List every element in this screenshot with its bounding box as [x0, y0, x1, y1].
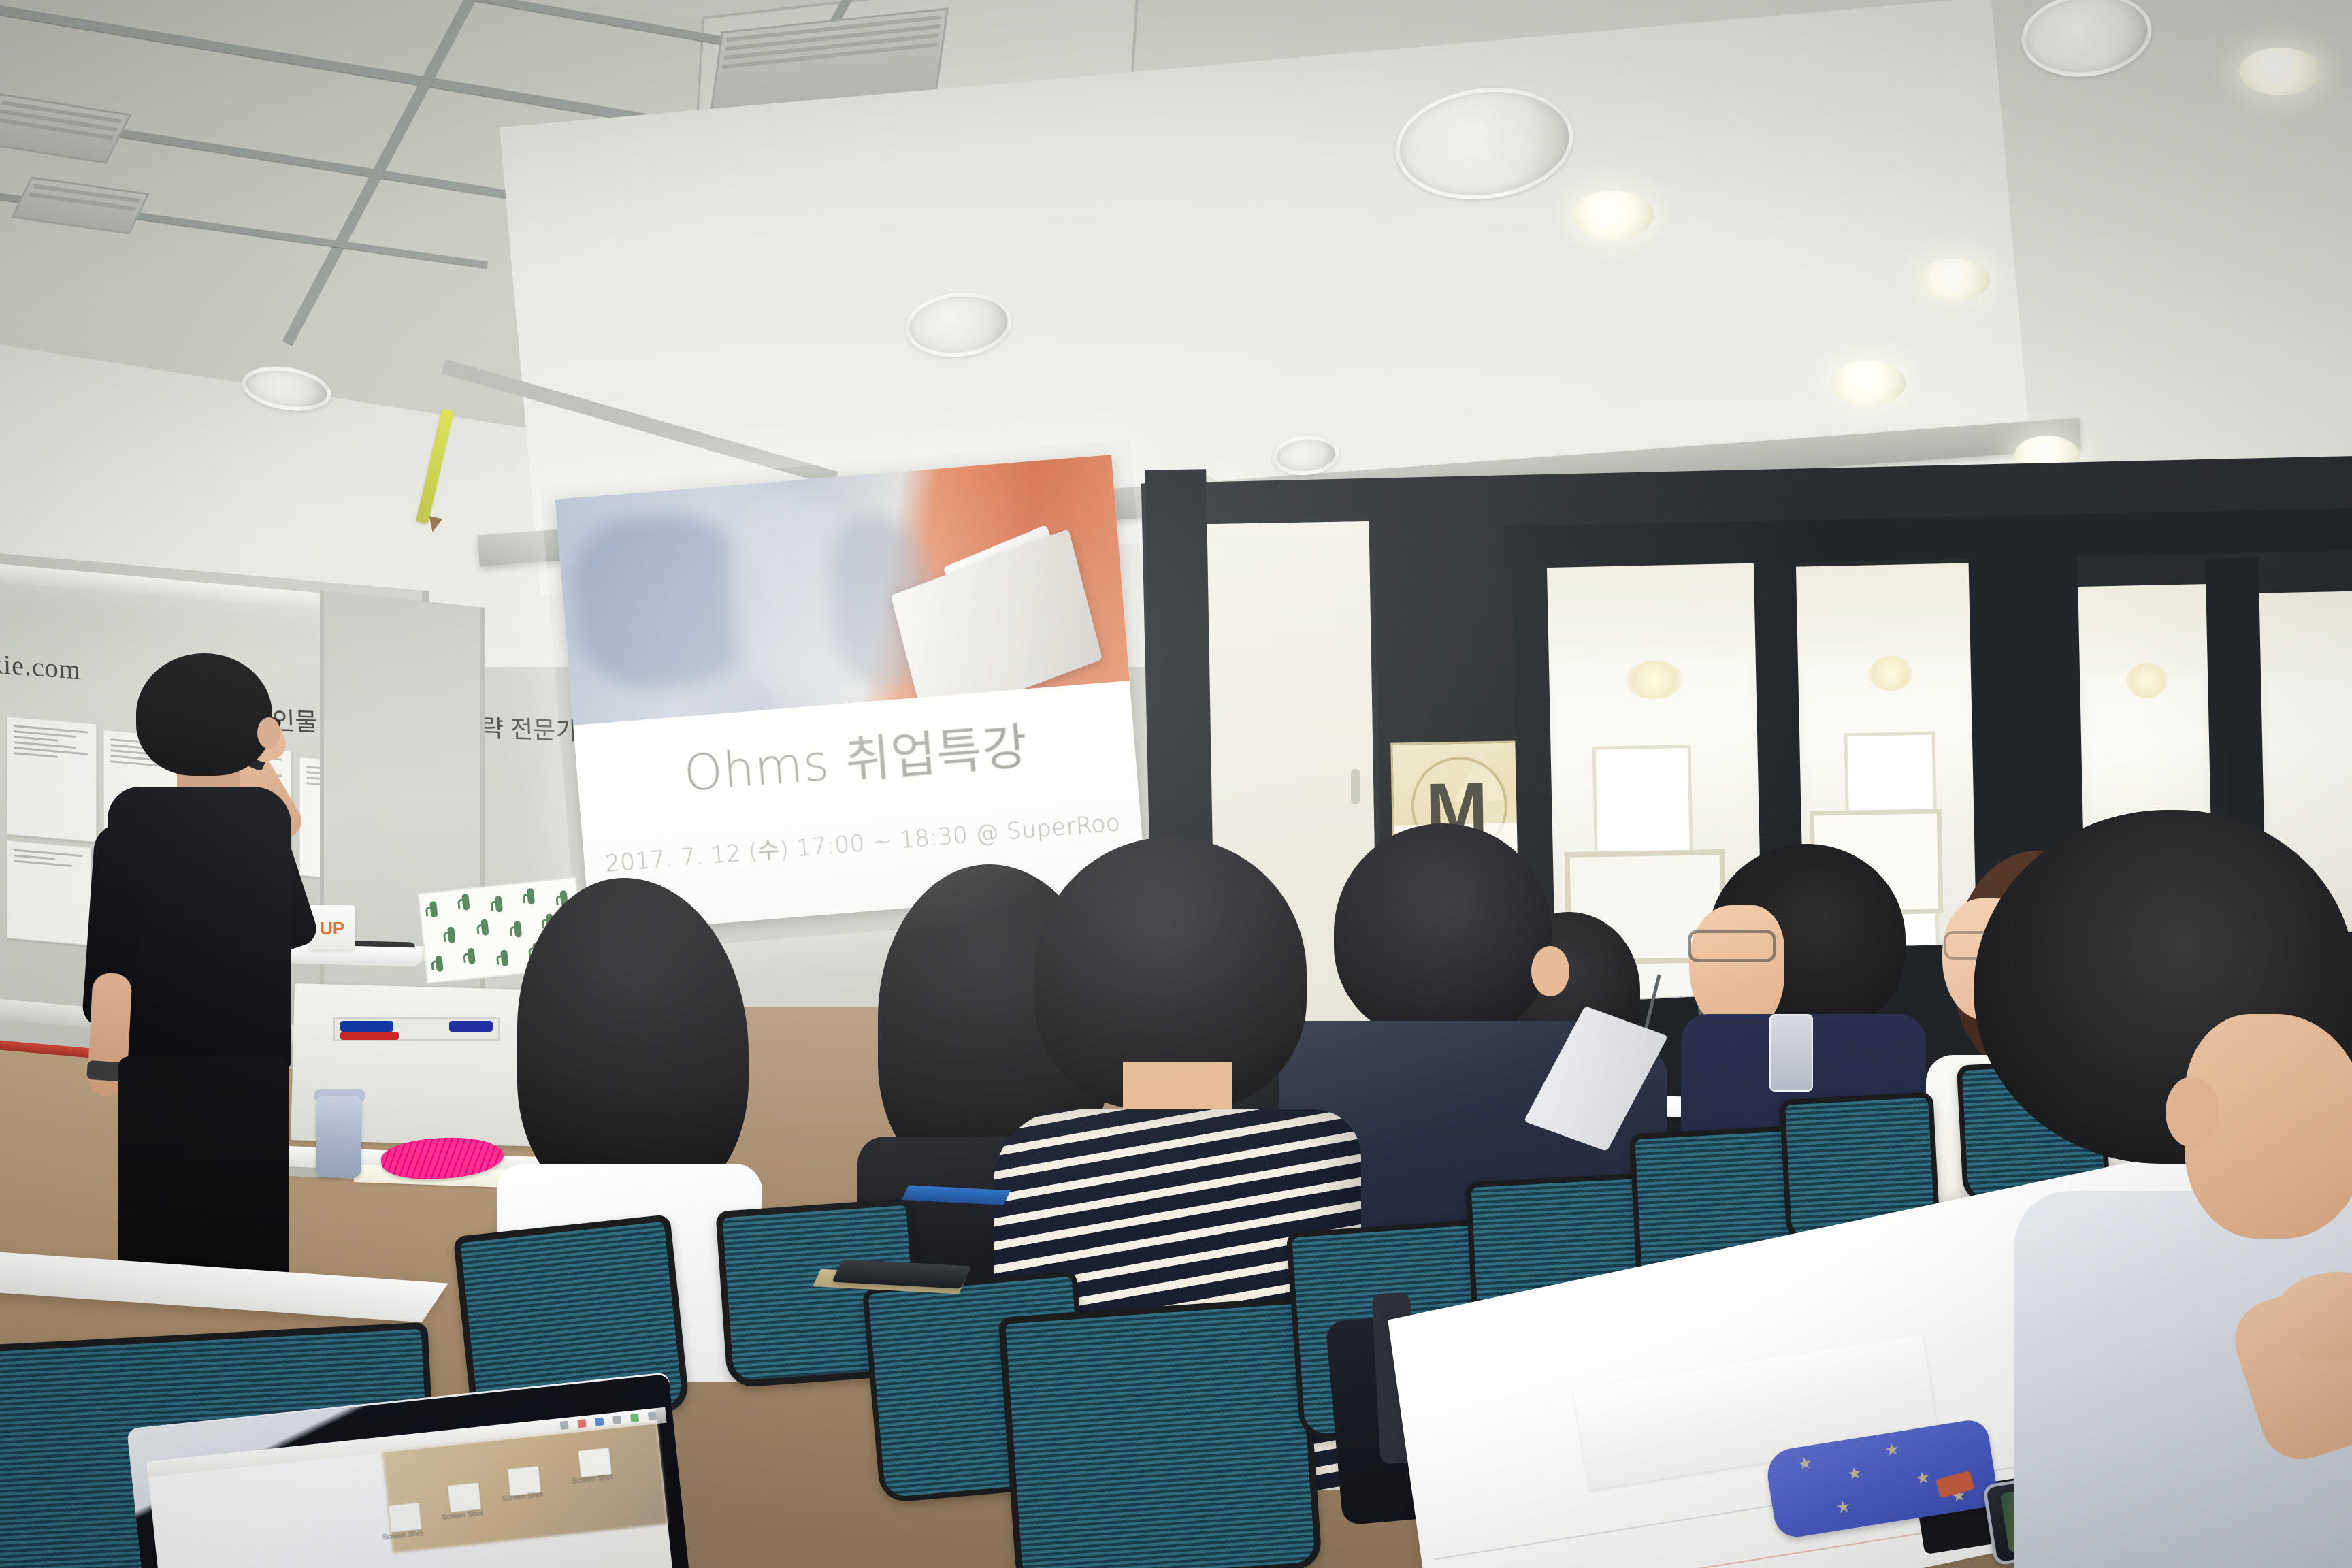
- ceiling-downlight: [2239, 48, 2321, 95]
- desktop-file-icon[interactable]: [388, 1502, 422, 1533]
- attendee-1-hair: [517, 878, 749, 1205]
- laptop-screen[interactable]: Screen Shot Screen Shot Screen Shot Scre…: [146, 1408, 673, 1568]
- desktop-file-icon[interactable]: [448, 1482, 482, 1513]
- classroom-photo: kie.com 인물 (기술자 기술 전략 전문가) Ohms 취업특강 201…: [0, 0, 2352, 1568]
- menubar-icon[interactable]: [595, 1418, 604, 1426]
- clear-tumbler: [1769, 1014, 1813, 1092]
- mug-logo-text: UP: [320, 920, 347, 936]
- attendee-8-ear: [2166, 1077, 2219, 1147]
- attendee-6-glasses: [1688, 930, 1776, 962]
- menubar-icon[interactable]: [630, 1414, 639, 1422]
- presenter: [82, 653, 306, 1279]
- ceiling-downlight: [1919, 259, 1990, 301]
- door-handle[interactable]: [1351, 769, 1360, 804]
- menubar-icon[interactable]: [612, 1416, 621, 1424]
- marker-blue-2[interactable]: [449, 1021, 493, 1032]
- menubar-icon[interactable]: [560, 1421, 569, 1430]
- menubar-clock[interactable]: [648, 1412, 657, 1421]
- presenter-ear: [257, 717, 280, 749]
- marker-blue[interactable]: [340, 1021, 393, 1032]
- ceiling-downlight: [1831, 361, 1906, 406]
- marker-red[interactable]: [340, 1032, 399, 1040]
- presenter-head: [136, 653, 272, 776]
- attendee-8-foreground: [1892, 810, 2352, 1568]
- attendee-4-ear: [1531, 946, 1569, 996]
- presenter-legs: [118, 1056, 289, 1281]
- whiteboard-note: [7, 840, 91, 946]
- water-tumbler: [316, 1096, 361, 1177]
- ceiling-downlight: [1572, 191, 1654, 240]
- menubar-icon[interactable]: [577, 1419, 586, 1428]
- chair[interactable]: [998, 1296, 1323, 1568]
